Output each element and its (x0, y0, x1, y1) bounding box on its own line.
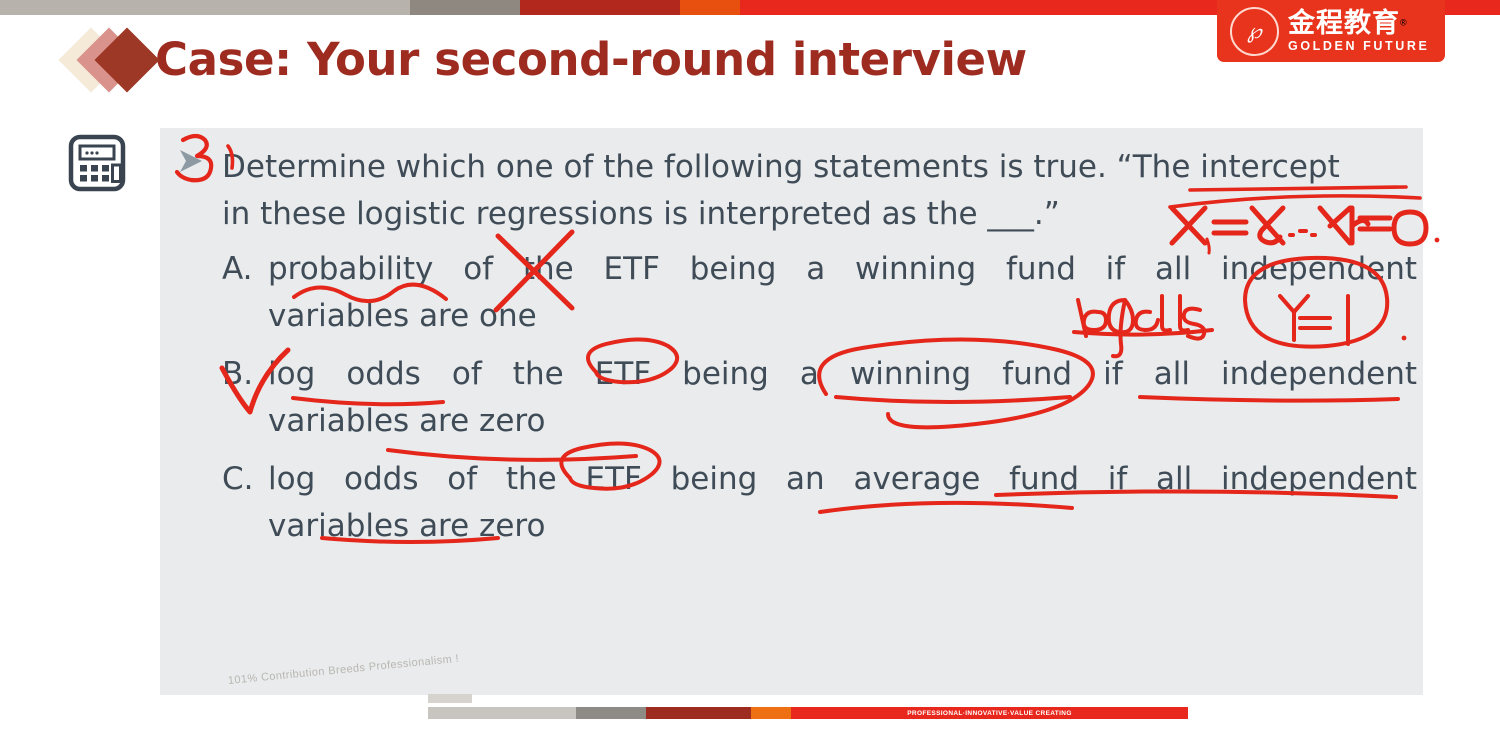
option-a-label: A. (222, 246, 268, 293)
option-b-label: B. (222, 351, 268, 398)
question-line-2: in these logistic regressions is interpr… (222, 191, 1412, 238)
option-a[interactable]: A.probability of the ETF being a winning… (222, 246, 1417, 340)
option-a-line-1: A.probability of the ETF being a winning… (222, 246, 1417, 293)
question-line-1: Determine which one of the following sta… (222, 149, 1340, 185)
brand-name-en: GOLDEN FUTURE (1288, 40, 1429, 53)
footer-gray-chip (428, 694, 472, 703)
top-bar-segment-dark-red (520, 0, 680, 15)
brand-name-cn-row: 金程教育® (1288, 10, 1429, 37)
option-a-line-2: variables are one (222, 293, 1417, 340)
option-b[interactable]: B.log odds of the ETF being a winning fu… (222, 351, 1417, 445)
option-b-line-2: variables are zero (222, 398, 1417, 445)
option-c-label: C. (222, 456, 268, 503)
calculator-icon (68, 134, 126, 192)
arrow-bullet-icon (176, 146, 210, 176)
content-panel: Determine which one of the following sta… (160, 128, 1423, 695)
option-c-line-2: variables are zero (222, 503, 1417, 550)
top-bar-segment-orange (680, 0, 740, 15)
footer-segment-dark-red (646, 707, 751, 719)
footer-color-bar: PROFESSIONAL·INNOVATIVE·VALUE CREATING (428, 707, 1188, 719)
top-bar-segment-beige (0, 0, 410, 15)
footer-bar-text: PROFESSIONAL·INNOVATIVE·VALUE CREATING (791, 707, 1188, 719)
brand-registered-icon: ® (1400, 17, 1407, 27)
brand-name-cn: 金程教育 (1288, 8, 1400, 39)
slide-header: Case: Your second-round interview (60, 26, 1027, 92)
top-bar-segment-gray (410, 0, 520, 15)
footer-segment-orange (751, 707, 791, 719)
slide-root: ℘ 金程教育® GOLDEN FUTURE Case: Your second-… (0, 0, 1500, 750)
option-b-text-1: log odds of the ETF being a winning fund… (268, 351, 1417, 398)
brand-seal-icon: ℘ (1230, 7, 1279, 56)
brand-logo-badge: ℘ 金程教育® GOLDEN FUTURE (1217, 0, 1445, 62)
brand-wordmark: 金程教育® GOLDEN FUTURE (1288, 10, 1429, 53)
footer-segment-light-gray (428, 707, 576, 719)
footer-segment-gray (576, 707, 646, 719)
option-a-text-1: probability of the ETF being a winning f… (268, 246, 1417, 293)
option-c-line-1: C.log odds of the ETF being an average f… (222, 456, 1417, 503)
diamond-bullet-icon (60, 26, 155, 92)
question-text: Determine which one of the following sta… (222, 144, 1412, 238)
option-c-text-1: log odds of the ETF being an average fun… (268, 456, 1417, 503)
option-c[interactable]: C.log odds of the ETF being an average f… (222, 456, 1417, 550)
option-b-line-1: B.log odds of the ETF being a winning fu… (222, 351, 1417, 398)
page-title: Case: Your second-round interview (155, 33, 1027, 86)
